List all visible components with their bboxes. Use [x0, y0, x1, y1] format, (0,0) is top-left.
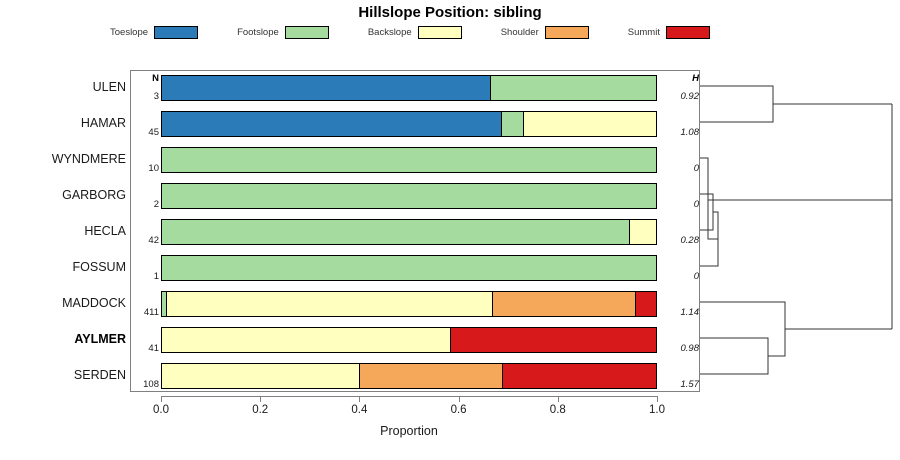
stacked-bar[interactable] — [161, 327, 657, 353]
h-value-serden: 1.57 — [659, 379, 701, 390]
legend-swatch-summit — [666, 26, 710, 39]
y-axis-label-hamar: HAMAR — [8, 116, 126, 130]
dendrogram-svg — [700, 70, 900, 392]
x-tick — [657, 396, 658, 402]
legend-swatch-footslope — [285, 26, 329, 39]
h-value-wyndmere: 0 — [659, 163, 701, 174]
h-value-maddock: 1.14 — [659, 307, 701, 318]
x-tick — [161, 396, 162, 402]
legend: Toeslope Footslope Backslope Shoulder Su… — [110, 24, 710, 40]
bar-row — [161, 75, 657, 101]
dendro-branch-maddock-cluster — [700, 302, 785, 356]
x-tick — [260, 396, 261, 402]
bar-segment-footslope[interactable] — [162, 184, 656, 208]
bar-segment-shoulder[interactable] — [360, 364, 503, 388]
h-value-ulen: 0.92 — [659, 91, 701, 102]
bar-segment-footslope[interactable] — [162, 220, 630, 244]
y-axis-label-hecla: HECLA — [8, 224, 126, 238]
y-axis-label-garborg: GARBORG — [8, 188, 126, 202]
bar-row — [161, 255, 657, 281]
x-tick — [359, 396, 360, 402]
dendro-branch-aylmer-serden — [700, 338, 768, 374]
bar-row — [161, 363, 657, 389]
bar-segment-footslope[interactable] — [502, 112, 524, 136]
legend-item-backslope[interactable]: Backslope — [368, 26, 462, 39]
n-value-garborg: 2 — [131, 199, 160, 210]
bar-segment-shoulder[interactable] — [493, 292, 636, 316]
dendrogram — [700, 70, 900, 392]
stacked-bar[interactable] — [161, 183, 657, 209]
h-value-fossum: 0 — [659, 271, 701, 282]
legend-swatch-backslope — [418, 26, 462, 39]
legend-label-backslope: Backslope — [368, 27, 412, 38]
dendro-branch-wyndmere-cluster — [700, 158, 718, 239]
legend-item-summit[interactable]: Summit — [628, 26, 710, 39]
bar-row — [161, 111, 657, 137]
y-axis-label-wyndmere: WYNDMERE — [8, 152, 126, 166]
dendro-branch-ulen-hamar — [700, 86, 773, 122]
stacked-bar[interactable] — [161, 147, 657, 173]
n-column: 34510242141141108 — [131, 70, 160, 392]
legend-label-footslope: Footslope — [237, 27, 279, 38]
n-value-hamar: 45 — [131, 127, 160, 138]
h-value-garborg: 0 — [659, 199, 701, 210]
x-tick-label: 0.0 — [136, 404, 186, 416]
x-tick-label: 0.6 — [434, 404, 484, 416]
legend-swatch-toeslope — [154, 26, 198, 39]
y-axis-labels: ULENHAMARWYNDMEREGARBORGHECLAFOSSUMMADDO… — [0, 70, 126, 392]
n-value-maddock: 411 — [131, 307, 160, 318]
h-value-hamar: 1.08 — [659, 127, 701, 138]
bar-row — [161, 147, 657, 173]
bar-segment-backslope[interactable] — [162, 328, 451, 352]
bar-segment-backslope[interactable] — [167, 292, 493, 316]
x-axis-line — [161, 396, 657, 397]
y-axis-label-fossum: FOSSUM — [8, 260, 126, 274]
h-value-aylmer: 0.98 — [659, 343, 701, 354]
bar-segment-footslope[interactable] — [162, 148, 656, 172]
x-tick — [558, 396, 559, 402]
x-axis-label: Proportion — [161, 424, 657, 438]
bar-row — [161, 183, 657, 209]
bar-row — [161, 327, 657, 353]
y-axis-label-ulen: ULEN — [8, 80, 126, 94]
bar-segment-backslope[interactable] — [162, 364, 360, 388]
n-value-fossum: 1 — [131, 271, 160, 282]
bar-row — [161, 291, 657, 317]
stacked-bar[interactable] — [161, 75, 657, 101]
bar-segment-summit[interactable] — [503, 364, 656, 388]
n-value-serden: 108 — [131, 379, 160, 390]
stacked-bar-plot — [161, 70, 657, 392]
x-tick-label: 1.0 — [632, 404, 682, 416]
h-column: 0.921.08000.2801.140.981.57 — [659, 70, 701, 392]
n-value-aylmer: 41 — [131, 343, 160, 354]
stacked-bar[interactable] — [161, 111, 657, 137]
n-value-ulen: 3 — [131, 91, 160, 102]
chart-root: Hillslope Position: sibling Toeslope Foo… — [0, 0, 900, 460]
bar-segment-footslope[interactable] — [162, 256, 656, 280]
legend-label-shoulder: Shoulder — [501, 27, 539, 38]
dendro-branch-garborg-hecla — [700, 194, 713, 230]
legend-label-summit: Summit — [628, 27, 660, 38]
bar-segment-backslope[interactable] — [630, 220, 656, 244]
stacked-bar[interactable] — [161, 255, 657, 281]
stacked-bar[interactable] — [161, 219, 657, 245]
bar-segment-backslope[interactable] — [524, 112, 656, 136]
y-axis-label-serden: SERDEN — [8, 368, 126, 382]
page-title: Hillslope Position: sibling — [0, 4, 900, 21]
y-axis-label-aylmer: AYLMER — [8, 332, 126, 346]
bar-row — [161, 219, 657, 245]
bar-segment-summit[interactable] — [451, 328, 656, 352]
bar-segment-toeslope[interactable] — [162, 112, 502, 136]
x-tick-label: 0.2 — [235, 404, 285, 416]
bar-segment-summit[interactable] — [636, 292, 656, 316]
legend-label-toeslope: Toeslope — [110, 27, 148, 38]
legend-item-toeslope[interactable]: Toeslope — [110, 26, 198, 39]
legend-item-shoulder[interactable]: Shoulder — [501, 26, 589, 39]
n-value-hecla: 42 — [131, 235, 160, 246]
stacked-bar[interactable] — [161, 291, 657, 317]
y-axis-label-maddock: MADDOCK — [8, 296, 126, 310]
bar-segment-toeslope[interactable] — [162, 76, 491, 100]
h-value-hecla: 0.28 — [659, 235, 701, 246]
x-tick-label: 0.4 — [334, 404, 384, 416]
n-value-wyndmere: 10 — [131, 163, 160, 174]
x-tick — [459, 396, 460, 402]
legend-item-footslope[interactable]: Footslope — [237, 26, 329, 39]
legend-swatch-shoulder — [545, 26, 589, 39]
x-tick-label: 0.8 — [533, 404, 583, 416]
bar-segment-footslope[interactable] — [491, 76, 656, 100]
stacked-bar[interactable] — [161, 363, 657, 389]
